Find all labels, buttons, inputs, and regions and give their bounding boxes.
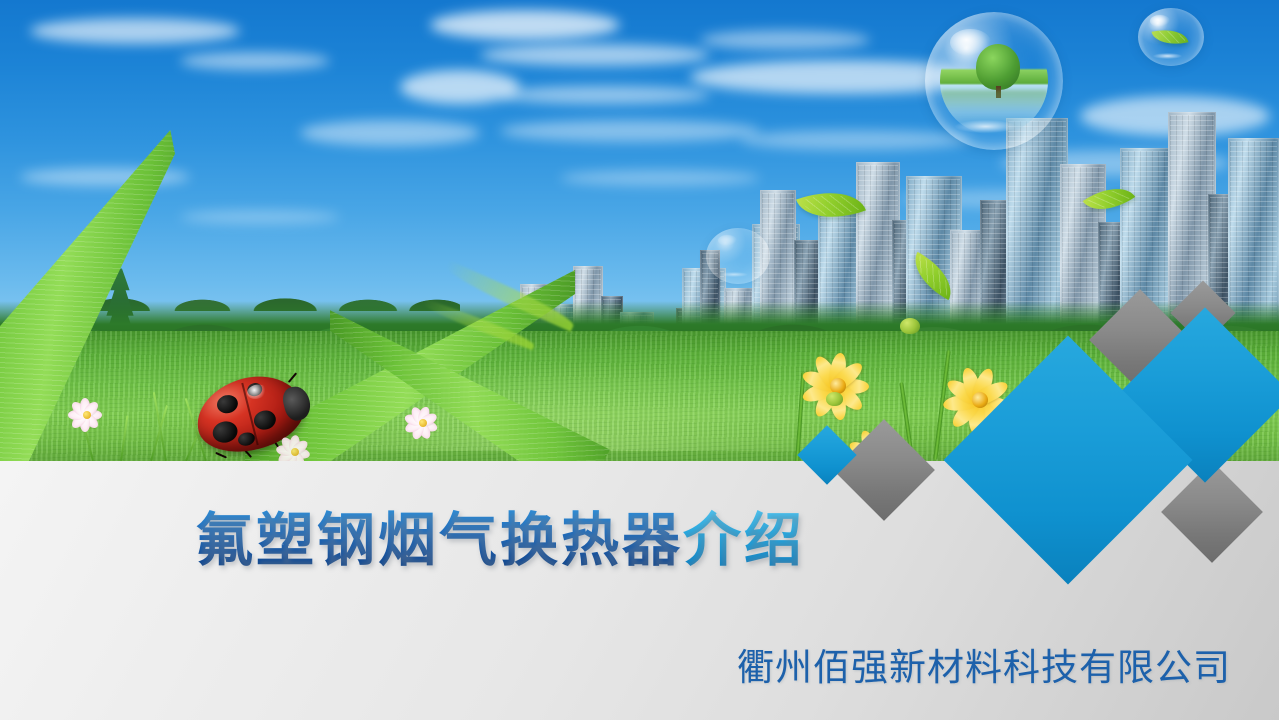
slide-title: 氟塑钢烟气换热器介绍 (195, 512, 805, 570)
white-cosmos-flower (400, 400, 446, 446)
white-cosmos-flower (275, 432, 315, 461)
presentation-slide: 氟塑钢烟气换热器介绍 衢州佰强新材料科技有限公司 (0, 0, 1279, 720)
yellow-flower (800, 348, 876, 424)
ladybug-leg (288, 372, 297, 382)
eco-bubble-small (706, 228, 770, 284)
flower-bud (900, 318, 920, 334)
slide-title-accent: 介绍 (683, 508, 805, 573)
flower-bud (826, 392, 843, 406)
slide-title-primary: 氟塑钢烟气换热器 (195, 508, 683, 573)
company-name: 衢州佰强新材料科技有限公司 (737, 637, 1231, 691)
ladybug-leg (215, 452, 227, 459)
white-cosmos-flower (64, 392, 110, 438)
eco-bubble-with-tree (925, 12, 1063, 150)
eco-bubble-with-leaf (1138, 8, 1204, 66)
leaf-icon (1152, 25, 1189, 50)
